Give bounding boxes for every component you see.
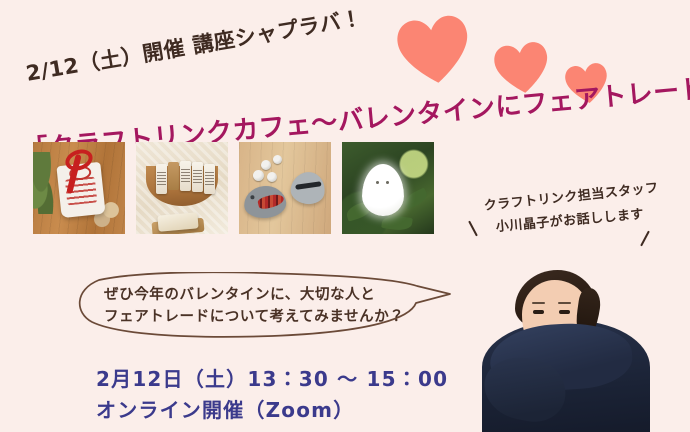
slash-right-mark bbox=[640, 231, 650, 247]
photo-white-bird bbox=[342, 142, 434, 234]
speech-bubble-line-2: フェアトレードについて考えてみませんか？ bbox=[104, 306, 404, 328]
staff-caption: クラフトリンク担当スタッフ 小川晶子がお話しします bbox=[484, 196, 674, 238]
photo-gift-pouch bbox=[33, 142, 125, 234]
staff-portrait bbox=[472, 258, 658, 432]
speech-bubble: ぜひ今年のバレンタインに、大切な人と フェアトレードについて考えてみませんか？ bbox=[72, 272, 462, 338]
event-details: 2月12日（土）13：30 〜 15：00 オンライン開催（Zoom） bbox=[96, 364, 448, 426]
slash-left-mark bbox=[468, 221, 478, 237]
event-flyer: 2/12（土）開催 講座シャプラバ！ 「クラフトリンクカフェ〜バレンタインにフェ… bbox=[0, 0, 690, 432]
speech-bubble-line-1: ぜひ今年のバレンタインに、大切な人と bbox=[104, 284, 375, 306]
event-format: オンライン開催（Zoom） bbox=[96, 395, 448, 426]
event-datetime: 2月12日（土）13：30 〜 15：00 bbox=[96, 364, 448, 395]
photo-soaps bbox=[136, 142, 228, 234]
photo-bird-purses bbox=[239, 142, 331, 234]
event-kicker-line: 2/12（土）開催 講座シャプラバ！ bbox=[24, 0, 443, 88]
product-photo-strip bbox=[33, 142, 434, 234]
